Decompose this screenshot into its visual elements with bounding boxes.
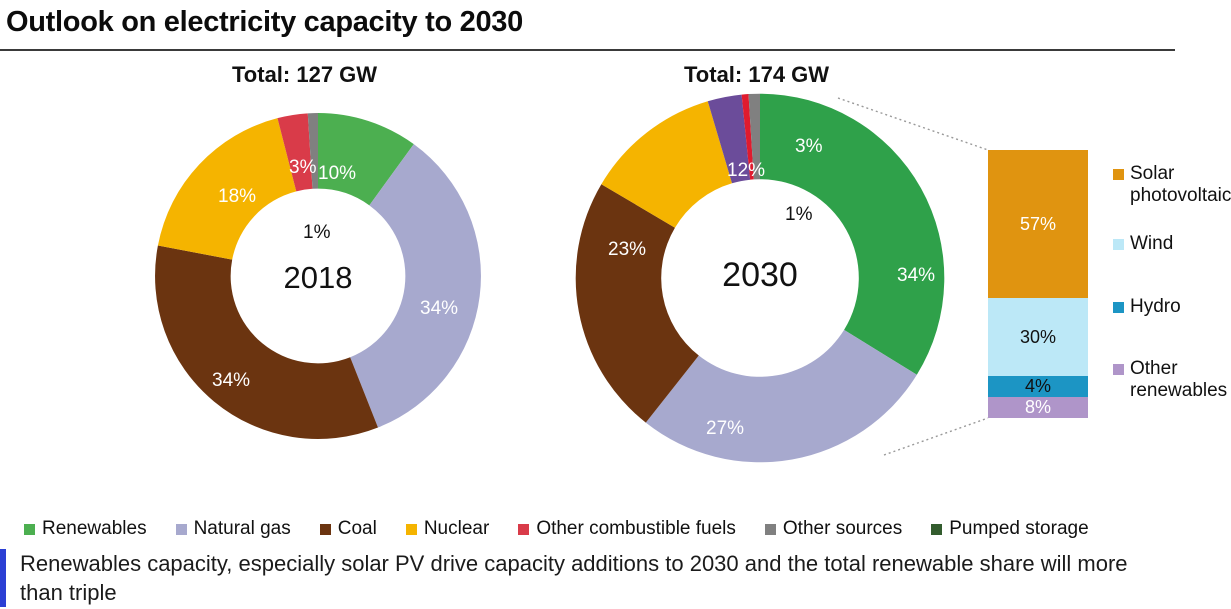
donut-center-label-2030: 2030 — [570, 256, 950, 295]
bar-segment: 30% — [988, 298, 1088, 376]
breakdown-legend-label: Other renewables — [1130, 358, 1231, 402]
legend-swatch-icon — [1113, 364, 1124, 375]
breakdown-legend-item: Solar photovoltaic — [1113, 163, 1231, 207]
slice-label-2018: 1% — [303, 222, 330, 244]
slice-label-2018: 34% — [212, 370, 250, 392]
slice-label-2030: 3% — [795, 136, 822, 158]
legend-item: Pumped storage — [931, 518, 1088, 540]
donut-center-label-2018: 2018 — [150, 260, 486, 296]
legend-swatch-icon — [176, 524, 187, 535]
slice-label-2030: 34% — [897, 265, 935, 287]
total-label-2030: Total: 174 GW — [684, 62, 829, 88]
slice-label-2030: 1% — [785, 204, 812, 226]
slice-label-2018: 34% — [420, 298, 458, 320]
breakdown-legend-item: Hydro — [1113, 296, 1181, 318]
slice-label-2018: 18% — [218, 186, 256, 208]
caption-text: Renewables capacity, especially solar PV… — [6, 549, 1131, 607]
legend-swatch-icon — [765, 524, 776, 535]
breakdown-legend-label: Solar photovoltaic — [1130, 163, 1231, 207]
total-label-2018: Total: 127 GW — [232, 62, 377, 88]
legend-swatch-icon — [24, 524, 35, 535]
page-title: Outlook on electricity capacity to 2030 — [6, 6, 523, 39]
slice-label-2030: 27% — [706, 418, 744, 440]
bar-segment-label: 4% — [1025, 376, 1051, 397]
breakdown-legend-item: Wind — [1113, 233, 1173, 255]
legend-item: Nuclear — [406, 518, 489, 540]
legend-swatch-icon — [1113, 302, 1124, 313]
legend-item: Other sources — [765, 518, 902, 540]
slice-label-2018: 3% — [289, 157, 316, 179]
slice-label-2030: 23% — [608, 239, 646, 261]
legend-label: Pumped storage — [949, 518, 1088, 540]
legend-label: Other combustible fuels — [536, 518, 736, 540]
legend-label: Other sources — [783, 518, 902, 540]
legend-label: Renewables — [42, 518, 147, 540]
breakdown-legend-label: Wind — [1130, 233, 1173, 255]
breakdown-legend-label: Hydro — [1130, 296, 1181, 318]
donut-chart-2030: 2030 — [570, 88, 950, 468]
bar-segment-label: 8% — [1025, 397, 1051, 418]
chart-page: Outlook on electricity capacity to 2030 … — [0, 0, 1231, 609]
legend-item: Other combustible fuels — [518, 518, 736, 540]
bar-segment-label: 30% — [1020, 327, 1056, 348]
slice-label-2030: 12% — [727, 160, 765, 182]
legend-label: Coal — [338, 518, 377, 540]
renewables-breakdown-bar: 57%30%4%8% — [988, 150, 1088, 418]
bar-segment: 4% — [988, 376, 1088, 397]
legend-label: Nuclear — [424, 518, 489, 540]
bar-segment: 8% — [988, 397, 1088, 418]
legend-swatch-icon — [518, 524, 529, 535]
bar-segment-label: 57% — [1020, 214, 1056, 235]
legend-swatch-icon — [1113, 239, 1124, 250]
legend-label: Natural gas — [194, 518, 291, 540]
breakdown-legend-item: Other renewables — [1113, 358, 1231, 402]
donut-chart-2018: 2018 — [150, 108, 486, 444]
legend-swatch-icon — [1113, 169, 1124, 180]
legend-swatch-icon — [931, 524, 942, 535]
legend-item: Natural gas — [176, 518, 291, 540]
caption: Renewables capacity, especially solar PV… — [0, 549, 1131, 607]
donut-slice — [760, 94, 944, 375]
legend-item: Coal — [320, 518, 377, 540]
bar-segment: 57% — [988, 150, 1088, 298]
slice-label-2018: 10% — [318, 163, 356, 185]
legend-swatch-icon — [320, 524, 331, 535]
title-divider — [0, 49, 1175, 51]
legend-swatch-icon — [406, 524, 417, 535]
legend-item: Renewables — [24, 518, 147, 540]
chart-legend: RenewablesNatural gasCoalNuclearOther co… — [24, 518, 1118, 540]
